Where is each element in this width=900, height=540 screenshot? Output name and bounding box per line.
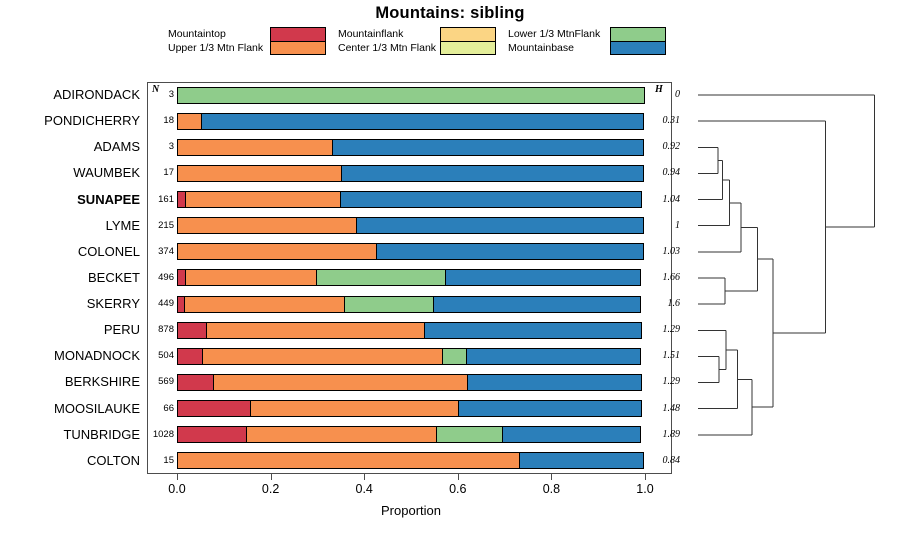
bar-segment — [202, 348, 443, 365]
axis-tick-label: 0.4 — [355, 482, 372, 496]
dendrogram — [680, 82, 895, 474]
bar-segment — [466, 348, 641, 365]
row-h-value: 1.04 — [650, 187, 680, 213]
row-h-value: 1 — [650, 213, 680, 239]
legend-swatch-group — [440, 27, 496, 55]
row-n-value: 374 — [150, 239, 174, 265]
row-n-value: 3 — [150, 134, 174, 160]
bar-segment — [177, 452, 520, 469]
row-h-value: 1.29 — [650, 369, 680, 395]
bar-segment — [177, 139, 333, 156]
legend-label: Lower 1/3 MtnFlank — [508, 27, 618, 41]
bar-segment — [467, 374, 642, 391]
row-h-value: 1.48 — [650, 396, 680, 422]
row-label: BERKSHIRE — [0, 369, 140, 395]
row-n-value: 161 — [150, 187, 174, 213]
stacked-bar — [177, 374, 645, 391]
bar-segment — [341, 165, 644, 182]
bar-segment — [458, 400, 642, 417]
bar-segment — [177, 243, 377, 260]
bar-segment — [201, 113, 643, 130]
axis-tick — [645, 474, 646, 480]
legend-column-2: Mountainflank Center 1/3 Mtn Flank — [338, 27, 508, 61]
bar-segment — [442, 348, 467, 365]
bar-segment — [250, 400, 459, 417]
row-label: ADAMS — [0, 134, 140, 160]
row-h-value: 1.66 — [650, 265, 680, 291]
bar-segment — [177, 217, 358, 234]
row-n-value: 15 — [150, 448, 174, 474]
x-axis-title: Proportion — [177, 503, 645, 518]
legend-label: Mountaintop — [168, 27, 226, 41]
row-h-value: 1.6 — [650, 291, 680, 317]
bar-segment — [177, 165, 342, 182]
axis-tick — [364, 474, 365, 480]
axis-tick — [177, 474, 178, 480]
bar-segment — [177, 322, 207, 339]
bar-segment — [185, 269, 317, 286]
row-label: SKERRY — [0, 291, 140, 317]
row-h-value: 0.94 — [650, 160, 680, 186]
stacked-bar — [177, 452, 645, 469]
axis-tick — [551, 474, 552, 480]
stacked-bar — [177, 113, 645, 130]
bar-segment — [177, 113, 203, 130]
legend-swatch-mountainbase — [610, 42, 666, 56]
bar-segment — [206, 322, 426, 339]
row-n-value: 215 — [150, 213, 174, 239]
axis-tick-label: 0.8 — [543, 482, 560, 496]
stacked-bar — [177, 269, 645, 286]
row-n-value: 504 — [150, 343, 174, 369]
chart-root: Mountains: sibling Mountaintop Upper 1/3… — [0, 0, 900, 540]
axis-tick — [271, 474, 272, 480]
bar-segment — [376, 243, 644, 260]
legend-swatch-group — [270, 27, 326, 55]
row-n-value: 878 — [150, 317, 174, 343]
page-title: Mountains: sibling — [0, 4, 900, 23]
stacked-bar — [177, 348, 645, 365]
row-label: MONADNOCK — [0, 343, 140, 369]
bar-segment — [185, 191, 342, 208]
bar-segment — [445, 269, 641, 286]
bar-segment — [177, 87, 645, 104]
row-label: PERU — [0, 317, 140, 343]
bar-segment — [177, 374, 214, 391]
row-n-value: 449 — [150, 291, 174, 317]
legend-swatch-lower-third — [610, 27, 666, 42]
legend: Mountaintop Upper 1/3 Mtn Flank Mountain… — [168, 27, 680, 61]
row-label: TUNBRIDGE — [0, 422, 140, 448]
row-n-value: 18 — [150, 108, 174, 134]
stacked-bar — [177, 426, 645, 443]
row-h-value: 0.92 — [650, 134, 680, 160]
bar-segment — [340, 191, 642, 208]
bar-segment — [424, 322, 642, 339]
row-label: WAUMBEK — [0, 160, 140, 186]
row-n-value: 17 — [150, 160, 174, 186]
stacked-bar — [177, 191, 645, 208]
row-h-value: 0 — [650, 82, 680, 108]
axis-tick-label: 0.6 — [449, 482, 466, 496]
row-h-value: 1.89 — [650, 422, 680, 448]
dendrogram-svg — [680, 82, 895, 474]
bar-segment — [502, 426, 641, 443]
axis-tick-label: 0.0 — [168, 482, 185, 496]
legend-swatch-group — [610, 27, 666, 55]
legend-label: Center 1/3 Mtn Flank — [338, 41, 442, 55]
row-label: LYME — [0, 213, 140, 239]
bar-segment — [177, 400, 251, 417]
bar-segment — [436, 426, 503, 443]
bar-segment — [316, 269, 447, 286]
row-label: PONDICHERRY — [0, 108, 140, 134]
row-h-value: 1.03 — [650, 239, 680, 265]
bar-segment — [519, 452, 644, 469]
legend-column-3: Lower 1/3 MtnFlank Mountainbase — [508, 27, 678, 61]
row-n-value: 3 — [150, 82, 174, 108]
bar-segment — [246, 426, 438, 443]
legend-label: Mountainbase — [508, 41, 618, 55]
axis-tick-label: 0.2 — [262, 482, 279, 496]
bar-segment — [433, 296, 641, 313]
row-n-value: 1028 — [150, 422, 174, 448]
axis-tick-label: 1.0 — [636, 482, 653, 496]
legend-column-1: Mountaintop Upper 1/3 Mtn Flank — [168, 27, 338, 61]
stacked-bar — [177, 322, 645, 339]
row-n-value: 569 — [150, 369, 174, 395]
stacked-bar — [177, 217, 645, 234]
stacked-bar — [177, 165, 645, 182]
row-h-value: 0.31 — [650, 108, 680, 134]
bar-segment — [213, 374, 469, 391]
row-label: MOOSILAUKE — [0, 396, 140, 422]
legend-label: Mountainflank — [338, 27, 442, 41]
legend-swatch-upper-third — [270, 42, 326, 56]
stacked-bar — [177, 296, 645, 313]
stacked-bar — [177, 87, 645, 104]
stacked-bar — [177, 243, 645, 260]
bar-segment — [177, 348, 203, 365]
legend-swatch-mountaintop — [270, 27, 326, 42]
row-label: ADIRONDACK — [0, 82, 140, 108]
legend-swatch-mountainflank — [440, 27, 496, 42]
legend-label: Upper 1/3 Mtn Flank — [168, 41, 263, 55]
row-h-value: 1.29 — [650, 317, 680, 343]
row-h-value: 0.84 — [650, 448, 680, 474]
bar-segment — [332, 139, 644, 156]
bar-segment — [344, 296, 434, 313]
legend-swatch-center-third — [440, 42, 496, 56]
bar-segment — [177, 426, 247, 443]
axis-tick — [458, 474, 459, 480]
row-label: COLTON — [0, 448, 140, 474]
bar-segment — [184, 296, 345, 313]
row-label: SUNAPEE — [0, 187, 140, 213]
row-label: BECKET — [0, 265, 140, 291]
row-n-value: 66 — [150, 396, 174, 422]
row-h-value: 1.51 — [650, 343, 680, 369]
stacked-bar — [177, 400, 645, 417]
row-label: COLONEL — [0, 239, 140, 265]
bar-segment — [356, 217, 643, 234]
row-n-value: 496 — [150, 265, 174, 291]
stacked-bar — [177, 139, 645, 156]
